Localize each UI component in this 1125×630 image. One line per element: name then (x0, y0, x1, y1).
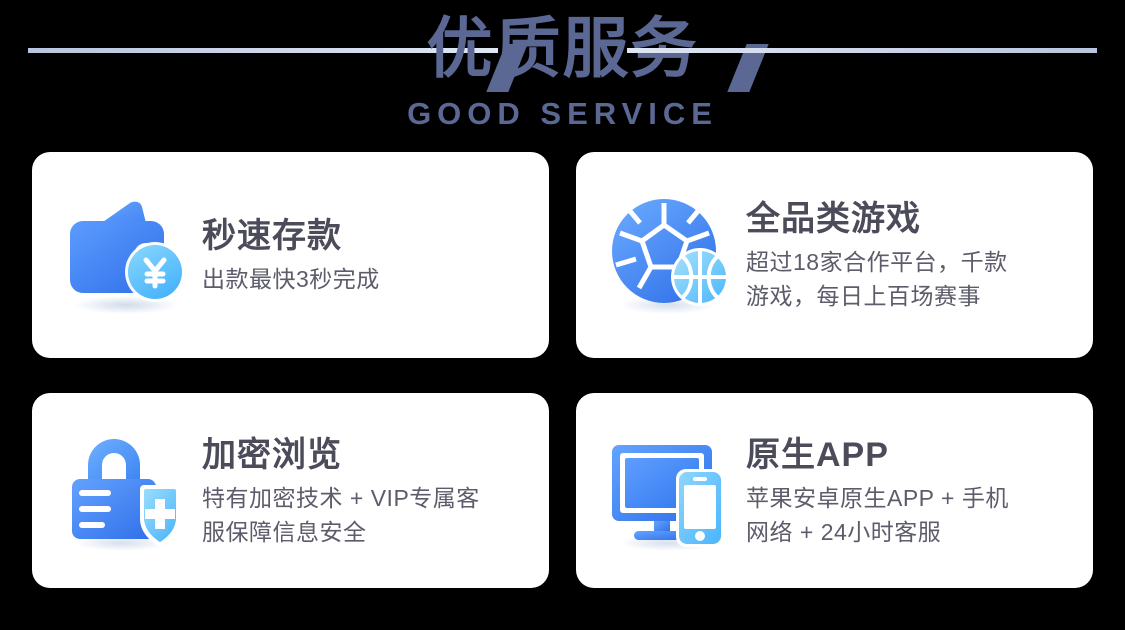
card-subtitle-line: 超过18家合作平台，千款 (746, 245, 1079, 279)
card-subtitle-line: 游戏，每日上百场赛事 (746, 279, 1079, 313)
card-subtitle-line: 特有加密技术 + VIP专属客 (202, 481, 535, 515)
card-text-block: 秒速存款 出款最快3秒完成 (194, 214, 549, 296)
feature-card-native-app[interactable]: 原生APP 苹果安卓原生APP + 手机 网络 + 24小时客服 (576, 393, 1093, 588)
card-text-block: 加密浏览 特有加密技术 + VIP专属客 服保障信息安全 (194, 433, 549, 549)
lock-shield-icon (62, 425, 194, 557)
page-subtitle: GOOD SERVICE (0, 96, 1125, 132)
card-subtitle-line: 出款最快3秒完成 (202, 262, 535, 296)
card-title: 秒速存款 (202, 214, 535, 258)
monitor-phone-icon (606, 425, 738, 557)
card-title: 全品类游戏 (746, 197, 1079, 241)
card-title: 原生APP (746, 433, 1079, 477)
feature-card-deposit[interactable]: 秒速存款 出款最快3秒完成 (32, 152, 549, 358)
page-header: 优质服务 GOOD SERVICE (0, 0, 1125, 150)
card-subtitle-line: 苹果安卓原生APP + 手机 (746, 481, 1079, 515)
card-subtitle: 特有加密技术 + VIP专属客 服保障信息安全 (202, 481, 535, 549)
soccer-basketball-icon (606, 189, 738, 321)
wallet-yen-icon (62, 189, 194, 321)
header-rule-right (627, 48, 1097, 53)
card-title: 加密浏览 (202, 433, 535, 477)
card-text-block: 全品类游戏 超过18家合作平台，千款 游戏，每日上百场赛事 (738, 197, 1093, 313)
feature-card-grid: 秒速存款 出款最快3秒完成 (32, 152, 1093, 588)
feature-card-games[interactable]: 全品类游戏 超过18家合作平台，千款 游戏，每日上百场赛事 (576, 152, 1093, 358)
card-subtitle: 苹果安卓原生APP + 手机 网络 + 24小时客服 (746, 481, 1079, 549)
card-subtitle: 超过18家合作平台，千款 游戏，每日上百场赛事 (746, 245, 1079, 313)
feature-card-encryption[interactable]: 加密浏览 特有加密技术 + VIP专属客 服保障信息安全 (32, 393, 549, 588)
card-subtitle-line: 网络 + 24小时客服 (746, 515, 1079, 549)
card-subtitle-line: 服保障信息安全 (202, 515, 535, 549)
card-text-block: 原生APP 苹果安卓原生APP + 手机 网络 + 24小时客服 (738, 433, 1093, 549)
card-subtitle: 出款最快3秒完成 (202, 262, 535, 296)
